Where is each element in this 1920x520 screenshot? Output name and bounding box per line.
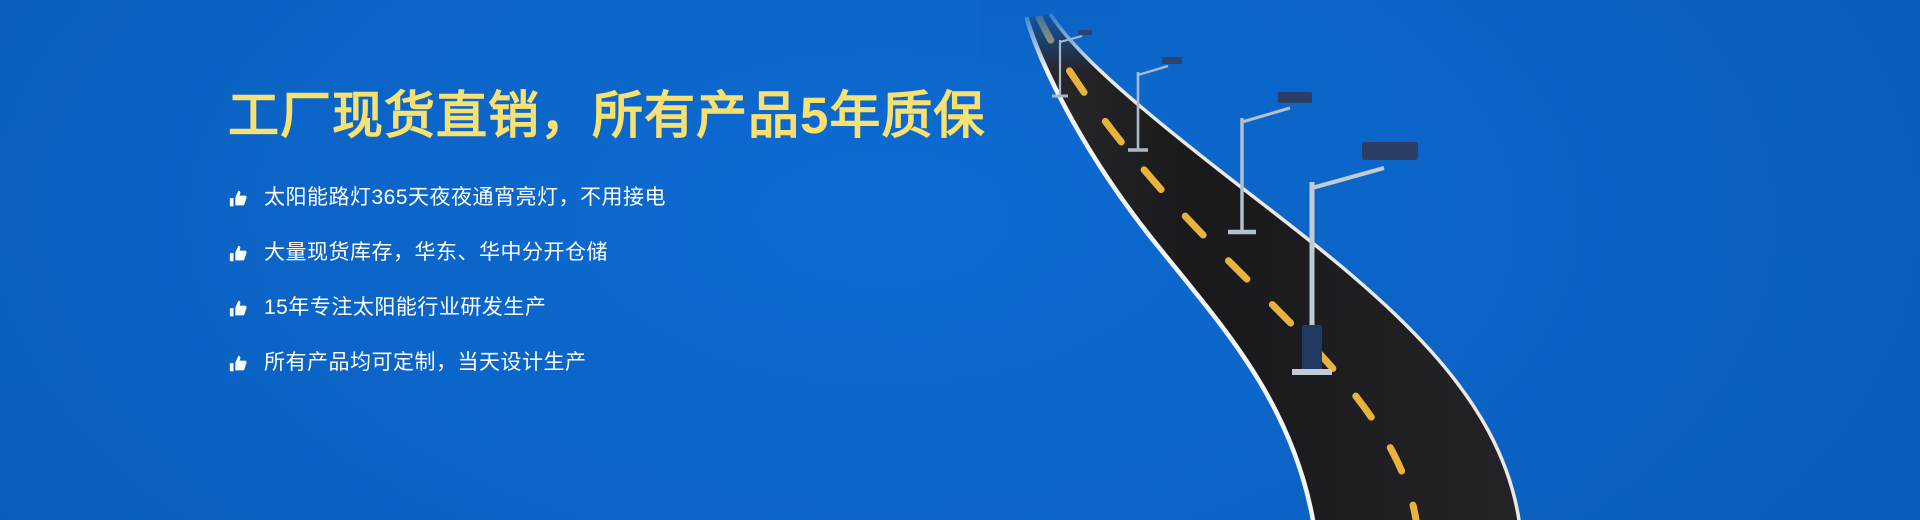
- thumbs-up-icon: [228, 353, 250, 375]
- horizon-haze: [980, 0, 1120, 70]
- road-surface: [1026, 14, 1520, 520]
- list-item-label: 大量现货库存，华东、华中分开仓储: [264, 242, 608, 263]
- list-item: 所有产品均可定制，当天设计生产: [228, 335, 988, 390]
- list-item: 太阳能路灯365天夜夜通宵亮灯，不用接电: [228, 170, 988, 225]
- thumbs-up-icon: [228, 188, 250, 210]
- list-item-label: 太阳能路灯365天夜夜通宵亮灯，不用接电: [264, 187, 666, 208]
- banner-text-column: 工厂现货直销，所有产品5年质保 太阳能路灯365天夜夜通宵亮灯，不用接电 大量现…: [228, 88, 988, 390]
- thumbs-up-icon: [228, 243, 250, 265]
- list-item-label: 所有产品均可定制，当天设计生产: [264, 352, 587, 373]
- page-title: 工厂现货直销，所有产品5年质保: [228, 88, 988, 144]
- list-item-label: 15年专注太阳能行业研发生产: [264, 297, 546, 318]
- promo-banner: 工厂现货直销，所有产品5年质保 太阳能路灯365天夜夜通宵亮灯，不用接电 大量现…: [0, 0, 1920, 520]
- solar-street-light-road-illustration: [960, 0, 1920, 520]
- list-item: 15年专注太阳能行业研发生产: [228, 280, 988, 335]
- list-item: 大量现货库存，华东、华中分开仓储: [228, 225, 988, 280]
- thumbs-up-icon: [228, 298, 250, 320]
